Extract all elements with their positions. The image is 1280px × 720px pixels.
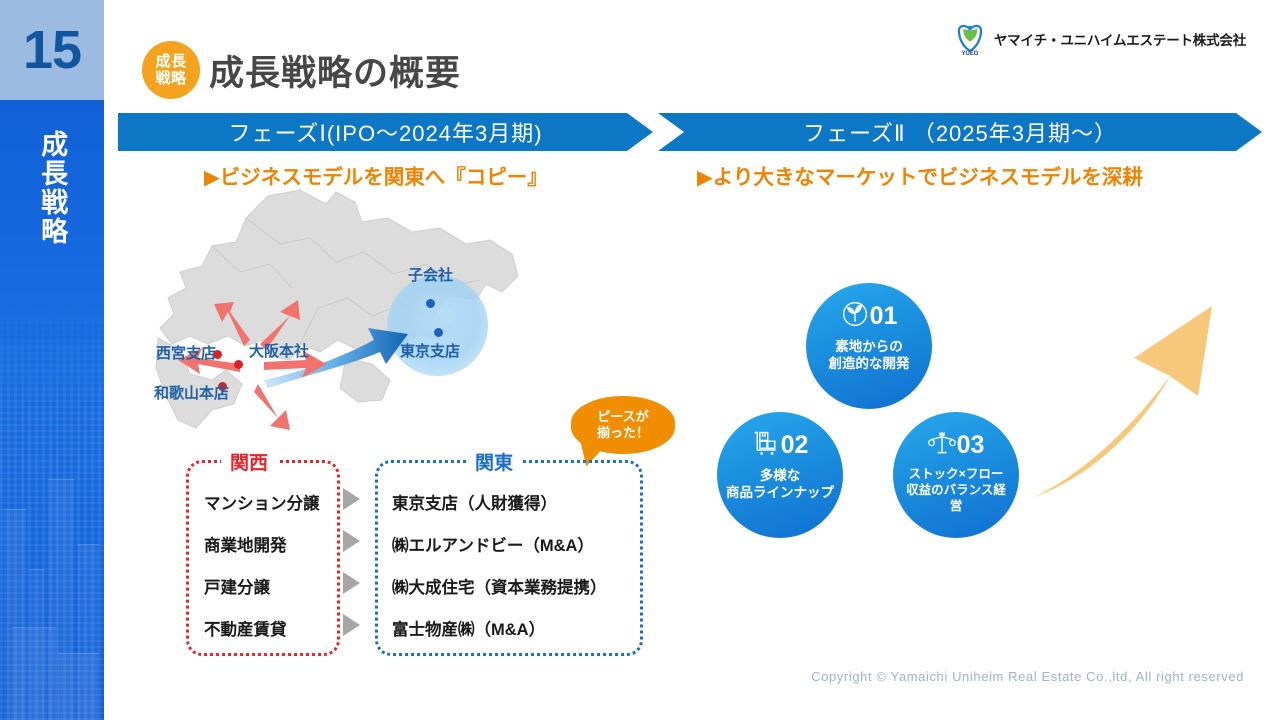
map-label-wakayama: 和歌山本店 <box>154 382 229 403</box>
list-item: 不動産賃貸 <box>189 607 337 649</box>
copyright-footer: Copyright © Yamaichi Uniheim Real Estate… <box>811 669 1244 684</box>
yueg-logo-icon: YUEG <box>953 22 987 56</box>
strategy-text-line: 創造的な開発 <box>829 355 910 372</box>
arrow-right-icon <box>343 572 360 594</box>
strategy-text-line: ストック×フロー <box>906 467 1006 483</box>
map-dot-osaka <box>234 360 243 369</box>
strategy-number-01: 01 <box>870 304 898 329</box>
list-item: 富士物産㈱（M&A） <box>378 607 640 649</box>
strategy-number-03: 03 <box>957 433 985 458</box>
japan-map: 西宮支店 大阪本社 和歌山本店 子会社 東京支店 <box>150 188 522 444</box>
phase-1-banner: フェーズⅠ(IPO〜2024年3月期) <box>118 113 653 151</box>
section-badge: 成長 戦略 <box>142 41 200 99</box>
list-item: マンション分譲 <box>189 481 337 523</box>
strategy-circle-01: 01 素地からの 創造的な開発 <box>806 283 932 409</box>
strategy-circle-02: 02 多様な 商品ラインナップ <box>717 412 843 538</box>
map-label-nishinomiya: 西宮支店 <box>156 342 216 363</box>
map-dot-tokyo-branch <box>434 328 443 337</box>
bubble-line2: 揃った！ <box>597 425 649 441</box>
strategy-text-line: 素地からの <box>829 338 910 355</box>
growth-arrow-icon <box>1020 280 1260 520</box>
page-title: 成長戦略の概要 <box>209 45 461 96</box>
product-boxes-cart-icon <box>752 429 780 462</box>
kansai-spread-arrows <box>168 298 338 433</box>
page-number: 15 <box>0 0 104 100</box>
kansai-box: 関西 マンション分譲 商業地開発 戸建分譲 不動産賃貸 <box>186 460 340 656</box>
map-label-osaka: 大阪本社 <box>249 340 309 361</box>
phase-2-banner: フェーズⅡ （2025年3月期〜） <box>658 113 1262 151</box>
kanto-box: 関東 東京支店（人財獲得） ㈱エルアンドビー（M&A） ㈱大成住宅（資本業務提携… <box>375 460 643 656</box>
strategy-text-line: 収益のバランス経 <box>906 483 1006 499</box>
list-item: ㈱エルアンドビー（M&A） <box>378 523 640 565</box>
strategy-circle-03: 03 ストック×フロー 収益のバランス経 営 <box>893 412 1019 538</box>
map-label-tokyo-branch: 東京支店 <box>400 340 460 361</box>
phase-1-subtitle: ▶ビジネスモデルを関東へ『コピー』 <box>204 160 548 190</box>
sidebar-rail-label: 成長戦略 <box>0 130 104 300</box>
transition-arrows <box>338 478 374 650</box>
map-dot-subsidiary <box>426 299 435 308</box>
balance-scales-icon <box>928 429 956 462</box>
arrow-right-icon <box>343 614 360 636</box>
strategy-text-line: 営 <box>906 499 1006 515</box>
slide-canvas: 15 成長戦略 成長 戦略 成長戦略の概要 YUEG ヤマイチ・ユニハイムエステ… <box>0 0 1280 720</box>
svg-text:YUEG: YUEG <box>961 51 978 56</box>
strategy-text-line: 商品ラインナップ <box>726 484 834 501</box>
kansai-caption: 関西 <box>221 448 277 475</box>
list-item: ㈱大成住宅（資本業務提携） <box>378 565 640 607</box>
company-name: ヤマイチ・ユニハイムエステート株式会社 <box>994 29 1246 49</box>
cityscape-background-image <box>0 300 104 720</box>
bubble-line1: ピースが <box>597 409 648 425</box>
pieces-complete-bubble: ピースが 揃った！ <box>571 396 675 454</box>
strategy-text-line: 多様な <box>726 467 834 484</box>
list-item: 戸建分譲 <box>189 565 337 607</box>
kanto-caption: 関東 <box>466 448 522 475</box>
list-item: 商業地開発 <box>189 523 337 565</box>
company-logo: YUEG ヤマイチ・ユニハイムエステート株式会社 <box>953 22 1246 56</box>
arrow-right-icon <box>343 488 360 510</box>
map-label-subsidiary: 子会社 <box>408 264 453 285</box>
strategy-number-02: 02 <box>781 433 809 458</box>
section-badge-line1: 成長 <box>155 53 186 70</box>
phase-1-banner-label: フェーズⅠ(IPO〜2024年3月期) <box>228 116 542 148</box>
arrow-right-icon <box>343 530 360 552</box>
list-item: 東京支店（人財獲得） <box>378 481 640 523</box>
phase-2-subtitle: ▶より大きなマーケットでビジネスモデルを深耕 <box>697 160 1143 190</box>
sidebar-rail: 成長戦略 <box>0 100 104 720</box>
section-badge-line2: 戦略 <box>155 70 186 87</box>
phase-2-banner-label: フェーズⅡ （2025年3月期〜） <box>803 116 1117 148</box>
sprout-leaf-icon <box>841 300 869 333</box>
